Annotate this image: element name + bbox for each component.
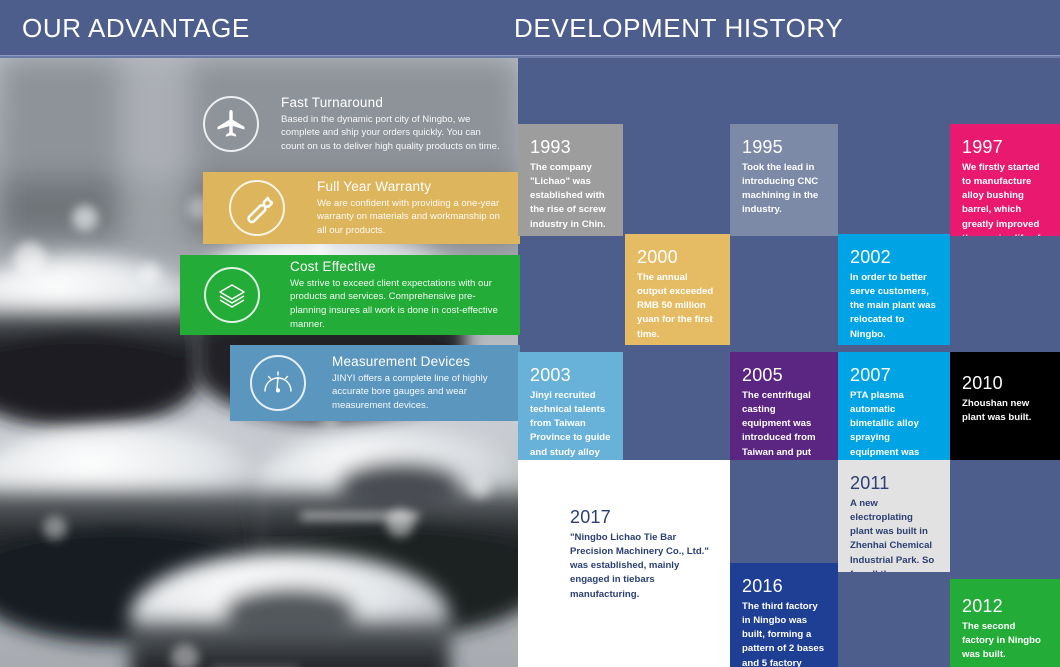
timeline-year: 2002	[850, 248, 938, 268]
timeline-year: 1993	[530, 138, 611, 158]
timeline-description: The second factory in Ningbo was built.	[962, 620, 1048, 663]
advantage-text-block: Cost Effective We strive to exceed clien…	[290, 259, 520, 331]
timeline-year: 2017	[570, 508, 718, 528]
timeline-block-2012[interactable]: 2012The second factory in Ningbo was bui…	[950, 579, 1060, 667]
page-title-development-history: DEVELOPMENT HISTORY	[514, 13, 843, 44]
timeline-year: 2000	[637, 248, 718, 268]
timeline-block-1995[interactable]: 1995Took the lead in introducing CNC mac…	[730, 124, 838, 236]
wrench-icon	[229, 180, 285, 236]
timeline-description: We firstly started to manufacture alloy …	[962, 161, 1048, 236]
stacked-sheets-icon	[204, 267, 260, 323]
timeline-year: 2016	[742, 577, 826, 597]
timeline-block-2005[interactable]: 2005The centrifugal casting equipment wa…	[730, 352, 838, 460]
timeline-year: 1997	[962, 138, 1048, 158]
advantage-card-measurement-devices[interactable]: Measurement Devices JINYI offers a compl…	[230, 345, 520, 421]
advantage-text-block: Full Year Warranty We are confident with…	[317, 179, 520, 238]
page-header: OUR ADVANTAGE DEVELOPMENT HISTORY	[0, 0, 1060, 57]
timeline-year: 2003	[530, 366, 611, 386]
timeline-description: The company "Lichao" was established wit…	[530, 161, 611, 232]
advantage-text-block: Fast Turnaround Based in the dynamic por…	[281, 95, 520, 154]
timeline-block-1997[interactable]: 1997We firstly started to manufacture al…	[950, 124, 1060, 236]
advantage-title: Cost Effective	[290, 259, 506, 274]
timeline-block-2011[interactable]: 2011A new electroplating plant was built…	[838, 460, 950, 572]
advantage-description: We strive to exceed client expectations …	[290, 277, 506, 331]
advantage-card-cost-effective[interactable]: Cost Effective We strive to exceed clien…	[180, 255, 520, 335]
timeline-block-2007[interactable]: 2007PTA plasma automatic bimetallic allo…	[838, 352, 950, 460]
timeline-description: A new electroplating plant was built in …	[850, 497, 938, 572]
timeline-block-2010[interactable]: 2010Zhoushan new plant was built.	[950, 352, 1060, 460]
infographic-page: OUR ADVANTAGE DEVELOPMENT HISTORY	[0, 0, 1060, 667]
timeline-description: Zhoushan new plant was built.	[962, 397, 1048, 425]
timeline-year: 2010	[962, 374, 1048, 394]
timeline-description: PTA plasma automatic bimetallic alloy sp…	[850, 389, 938, 460]
advantage-description: We are confident with providing a one-ye…	[317, 197, 506, 238]
timeline-block-2003[interactable]: 2003Jinyi recruited technical talents fr…	[518, 352, 623, 460]
timeline-year: 1995	[742, 138, 826, 158]
development-history-timeline: 1993The company "Lichao" was established…	[518, 58, 1060, 667]
page-title-our-advantage: OUR ADVANTAGE	[22, 13, 250, 44]
advantage-description: JINYI offers a complete line of highly a…	[332, 372, 506, 413]
timeline-description: Took the lead in introducing CNC machini…	[742, 161, 826, 218]
timeline-year: 2005	[742, 366, 826, 386]
advantage-text-block: Measurement Devices JINYI offers a compl…	[332, 354, 520, 413]
airplane-icon	[203, 96, 259, 152]
timeline-block-2017[interactable]: 2017"Ningbo Lichao Tie Bar Precision Mac…	[518, 460, 730, 667]
timeline-description: "Ningbo Lichao Tie Bar Precision Machine…	[570, 531, 718, 602]
timeline-description: The annual output exceeded RMB 50 millio…	[637, 271, 718, 342]
timeline-block-2016[interactable]: 2016The third factory in Ningbo was buil…	[730, 563, 838, 667]
timeline-block-2002[interactable]: 2002In order to better serve customers, …	[838, 234, 950, 345]
timeline-description: In order to better serve customers, the …	[850, 271, 938, 342]
timeline-block-1993[interactable]: 1993The company "Lichao" was established…	[518, 124, 623, 236]
timeline-year: 2011	[850, 474, 938, 494]
advantage-title: Fast Turnaround	[281, 95, 506, 110]
timeline-description: The centrifugal casting equipment was in…	[742, 389, 826, 460]
timeline-description: Jinyi recruited technical talents from T…	[530, 389, 611, 460]
advantage-card-fast-turnaround[interactable]: Fast Turnaround Based in the dynamic por…	[203, 88, 520, 160]
timeline-year: 2007	[850, 366, 938, 386]
advantage-card-full-year-warranty[interactable]: Full Year Warranty We are confident with…	[203, 172, 520, 244]
advantage-description: Based in the dynamic port city of Ningbo…	[281, 113, 506, 154]
gauge-icon	[250, 355, 306, 411]
timeline-description: The third factory in Ningbo was built, f…	[742, 600, 826, 667]
timeline-year: 2012	[962, 597, 1048, 617]
timeline-block-2000[interactable]: 2000The annual output exceeded RMB 50 mi…	[625, 234, 730, 345]
advantage-title: Measurement Devices	[332, 354, 506, 369]
advantage-title: Full Year Warranty	[317, 179, 506, 194]
